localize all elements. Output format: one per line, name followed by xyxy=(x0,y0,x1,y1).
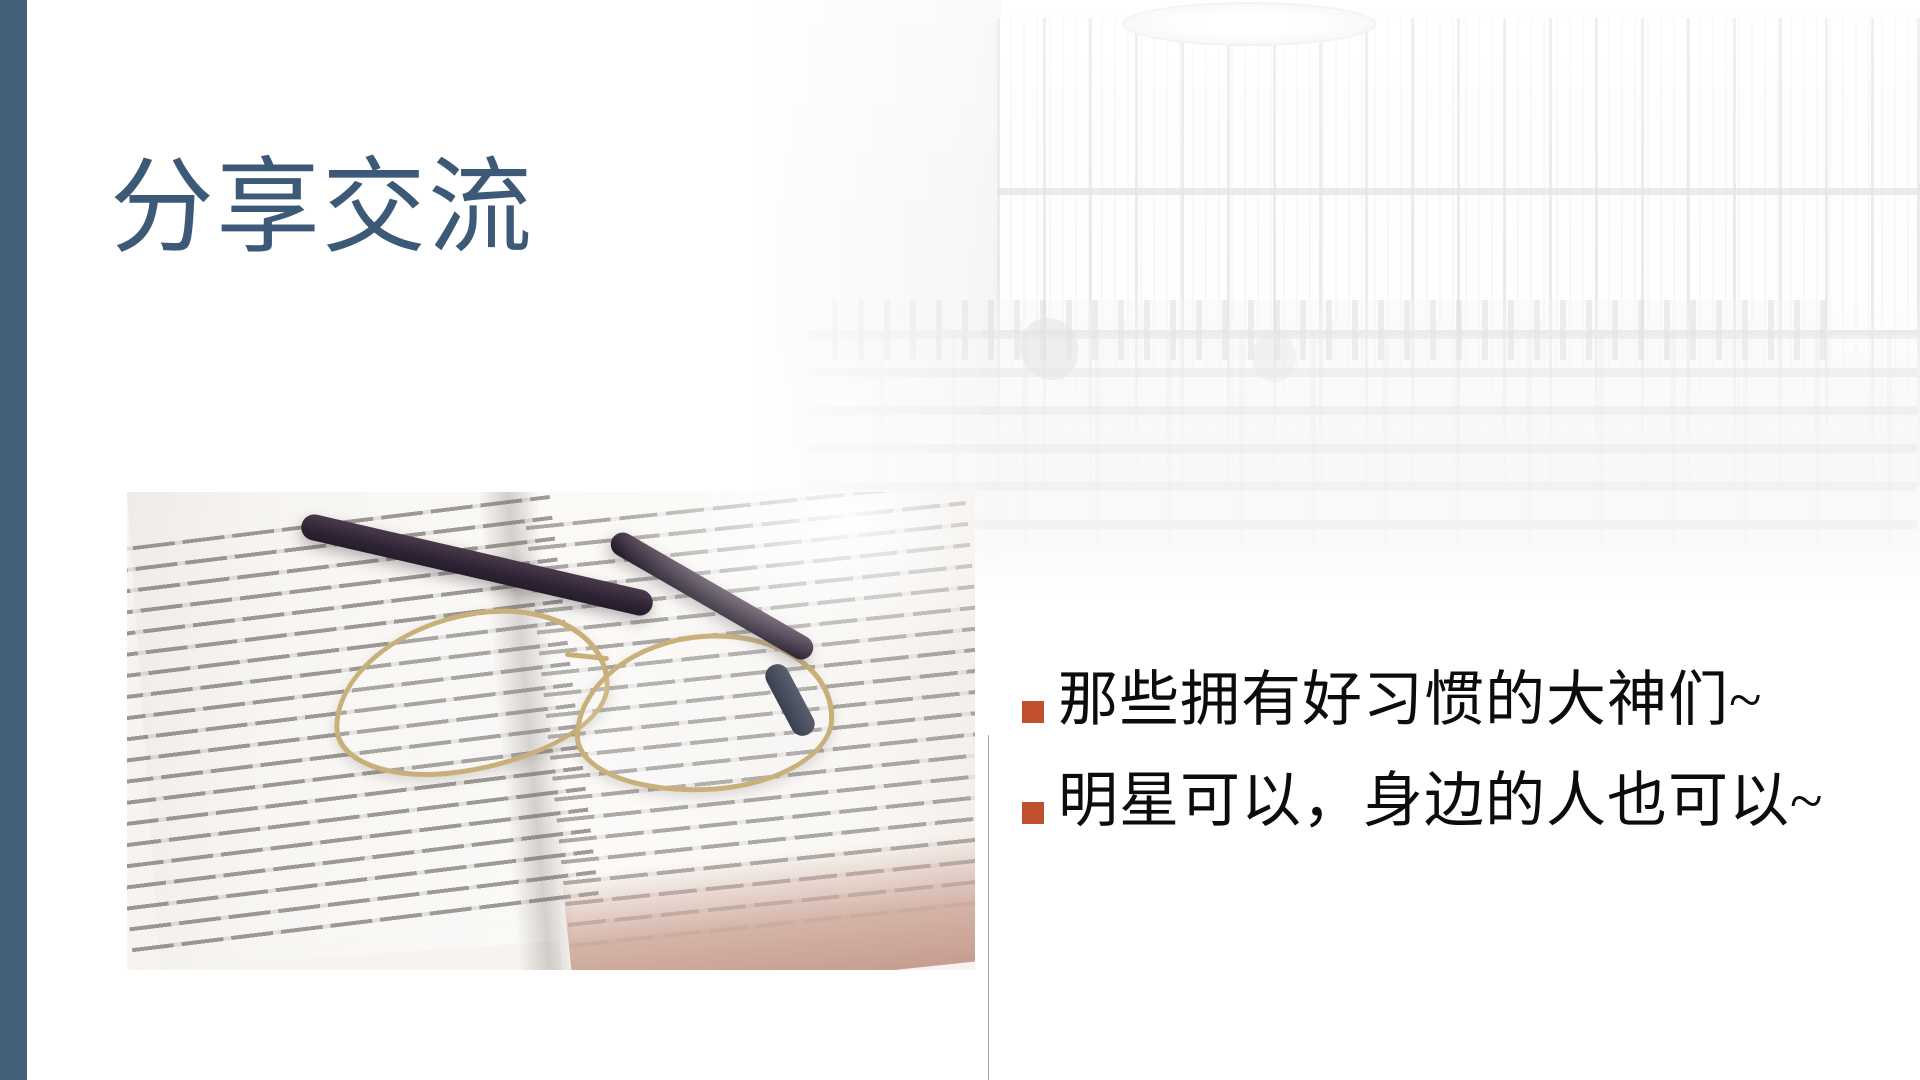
list-item-label: 那些拥有好习惯的大神们~ xyxy=(1058,668,1762,733)
content-divider xyxy=(988,735,989,1080)
left-accent-bar xyxy=(0,0,27,1080)
list-item: 那些拥有好习惯的大神们~ xyxy=(1022,668,1902,733)
page-title: 分享交流 xyxy=(110,152,534,266)
presentation-slide: 分享交流 那些拥有好习惯的大神们~ 明星可以，身边的人也可以~ xyxy=(0,0,1920,1080)
list-item-label: 明星可以，身边的人也可以~ xyxy=(1058,769,1823,834)
square-bullet-icon xyxy=(1022,802,1044,824)
bullet-list: 那些拥有好习惯的大神们~ 明星可以，身边的人也可以~ xyxy=(1022,668,1902,870)
square-bullet-icon xyxy=(1022,701,1044,723)
list-item: 明星可以，身边的人也可以~ xyxy=(1022,769,1902,834)
open-book-with-glasses-photo xyxy=(127,492,975,970)
book-page-highlight xyxy=(607,492,975,672)
